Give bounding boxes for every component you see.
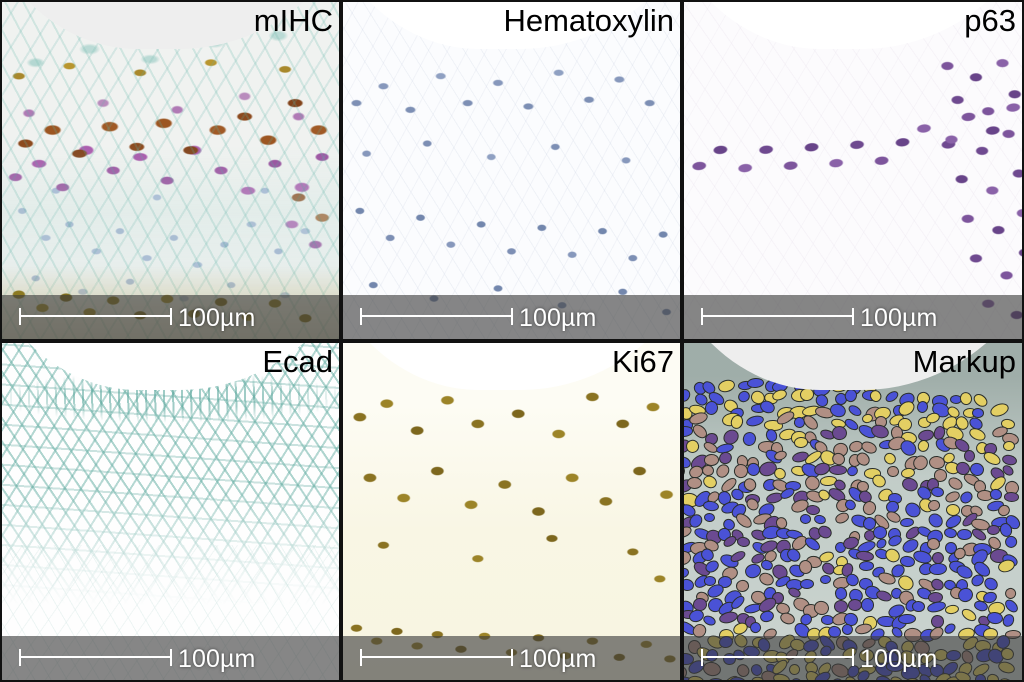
segmented-cell (988, 401, 1010, 419)
scale-bar-label: 100µm (860, 646, 937, 672)
segmented-cell (684, 438, 700, 454)
segmented-cell (734, 511, 755, 531)
segmented-cell (1004, 492, 1019, 502)
segmented-cell (793, 437, 808, 449)
segmented-cell (944, 604, 959, 615)
scale-bar-label: 100µm (178, 646, 255, 672)
segmented-cell (701, 473, 719, 490)
segmented-cell (942, 621, 957, 636)
scale-bar-line (701, 656, 853, 658)
segmented-cell (717, 378, 737, 394)
scale-bar-line (360, 656, 512, 658)
segmented-cell (834, 511, 851, 525)
segmented-cell (741, 431, 757, 448)
panel-ecad[interactable]: 100µm Ecad (0, 341, 341, 682)
scale-bar-cap-right (511, 308, 513, 325)
segmented-cell (682, 525, 694, 541)
scale-bar-line (360, 315, 512, 317)
scale-bar-cap-right (852, 308, 854, 325)
segmented-cell (873, 525, 888, 540)
segmented-cell (847, 403, 863, 418)
scale-bar-label: 100µm (519, 305, 596, 331)
segmented-cell (861, 597, 875, 612)
segmented-cell (813, 514, 827, 526)
scale-bar-cap-right (170, 649, 172, 666)
segmented-cell (898, 613, 916, 624)
segmentation-overlay (682, 363, 1024, 682)
segmented-cell (799, 513, 811, 523)
scale-bar-cap-right (170, 308, 172, 325)
segmented-cell (882, 450, 898, 466)
panel-label-ecad: Ecad (262, 344, 333, 380)
segmented-cell (926, 600, 946, 614)
scale-bar-line (701, 315, 853, 317)
scale-bar-label: 100µm (860, 305, 937, 331)
panel-label-p63: p63 (964, 3, 1016, 39)
segmented-cell (702, 500, 719, 512)
scale-bar-cap-left (19, 308, 21, 325)
panel-p63[interactable]: 100µm p63 (682, 0, 1024, 341)
scale-bar-cap-left (701, 649, 703, 666)
segmented-cell (704, 512, 716, 522)
segmented-cell (963, 450, 975, 463)
tissue-image-ki67 (343, 343, 680, 680)
mihc-figure-grid: 100µm mIHC 100µm Hematoxylin 100µm p6 (0, 0, 1024, 682)
tissue-image-p63 (684, 2, 1022, 339)
scale-bar-cap-right (511, 649, 513, 666)
panel-label-ki67: Ki67 (612, 344, 674, 380)
segmented-cell (916, 438, 931, 454)
segmented-cell (981, 450, 1002, 469)
scale-bar-cap-left (701, 308, 703, 325)
segmented-cell (929, 562, 948, 576)
panel-ki67[interactable]: 100µm Ki67 (341, 341, 682, 682)
segmented-cell (746, 414, 766, 428)
segmented-cell (943, 527, 958, 539)
segmented-cell (958, 391, 974, 407)
scale-bar-cap-left (360, 649, 362, 666)
segmented-cell (833, 599, 848, 613)
panel-label-markup: Markup (913, 344, 1016, 380)
tissue-image-mihc (2, 2, 339, 339)
panel-label-hematoxylin: Hematoxylin (503, 3, 674, 39)
segmented-cell (1002, 440, 1015, 451)
panel-markup[interactable]: 100µm Markup (682, 341, 1024, 682)
segmented-cell (746, 378, 764, 389)
segmented-cell (703, 453, 719, 466)
segmented-cell (927, 498, 941, 511)
scale-bar-label: 100µm (178, 305, 255, 331)
segmented-cell (972, 392, 991, 410)
scale-bar-cap-right (852, 649, 854, 666)
scale-bar-cap-left (19, 649, 21, 666)
segmented-cell (887, 466, 899, 478)
segmented-cell (912, 600, 926, 612)
segmented-cell (884, 389, 901, 405)
segmented-cell (859, 561, 874, 571)
segmented-cell (1002, 597, 1020, 615)
segmented-cell (829, 465, 847, 475)
segmented-cell (946, 475, 964, 492)
tissue-image-markup (684, 343, 1022, 680)
scale-bar-label: 100µm (519, 646, 596, 672)
scale-bar-line (19, 656, 171, 658)
segmented-cell (930, 486, 944, 498)
segmented-cell (986, 524, 1000, 535)
segmented-cell (682, 578, 695, 593)
panel-mihc[interactable]: 100µm mIHC (0, 0, 341, 341)
segmented-cell (819, 575, 831, 585)
segmented-cell (736, 536, 751, 548)
segmented-cell (861, 413, 874, 424)
segmented-cell (682, 566, 690, 579)
tissue-image-ecad (2, 343, 339, 680)
segmented-cell (958, 489, 975, 506)
segmented-cell (759, 609, 775, 623)
scale-bar-cap-left (360, 308, 362, 325)
segmented-cell (968, 425, 988, 442)
segmented-cell (799, 578, 813, 589)
panel-hematoxylin[interactable]: 100µm Hematoxylin (341, 0, 682, 341)
tissue-image-hematoxylin (343, 2, 680, 339)
scale-bar-line (19, 315, 171, 317)
segmented-cell (981, 575, 999, 593)
segmented-cell (990, 488, 1004, 501)
segmented-cell (831, 425, 847, 441)
segmented-cell (749, 620, 763, 634)
panel-label-mihc: mIHC (254, 3, 333, 39)
segmented-cell (682, 387, 692, 403)
segmented-cell (779, 611, 797, 627)
segmented-cell (1001, 613, 1017, 629)
segmented-cell (874, 589, 892, 604)
segmented-cell (957, 529, 972, 540)
